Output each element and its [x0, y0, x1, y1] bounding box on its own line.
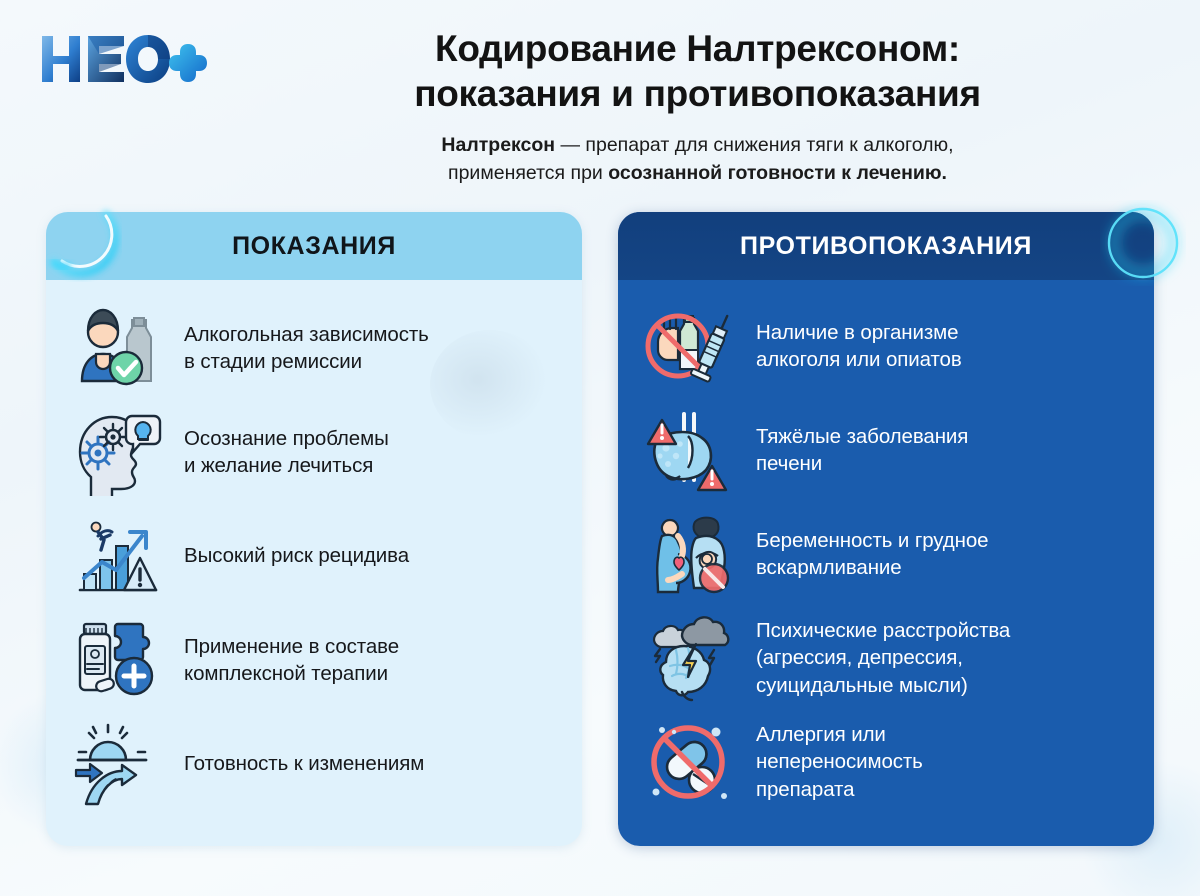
pregnancy-breastfeeding-ban-icon — [642, 508, 738, 600]
card-indications-body: Алкогольная зависимость в стадии ремисси… — [46, 280, 582, 846]
neo-plus-logo-icon — [38, 28, 208, 90]
card-indications: ПОКАЗАНИЯ Алкогольн — [46, 212, 582, 846]
list-item-text: Применение в составе комплексной терапии — [184, 633, 399, 688]
list-item-text: Аллергия или непереносимость препарата — [756, 721, 923, 803]
card-contraindications: ПРОТИВОПОКАЗАНИЯ — [618, 212, 1154, 846]
list-item-line1: Тяжёлые заболевания — [756, 423, 968, 450]
list-item-line1: Применение в составе — [184, 633, 399, 660]
page-header: Кодирование Налтрексоном: показания и пр… — [0, 0, 1200, 212]
brain-storm-cloud-icon — [642, 612, 738, 704]
list-item-line1: Психические расстройства — [756, 617, 1010, 644]
list-item-line2: и желание лечиться — [184, 452, 389, 479]
card-contraindications-header: ПРОТИВОПОКАЗАНИЯ — [618, 212, 1154, 280]
rising-chart-warning-icon — [70, 510, 166, 602]
subtitle-emphasis: осознанной готовности к лечению. — [608, 162, 947, 184]
list-item-line2: алкоголя или опиатов — [756, 346, 962, 373]
subtitle-drug-name: Налтрексон — [441, 134, 555, 156]
card-contraindications-body: Наличие в организме алкоголя или опиатов — [618, 280, 1154, 846]
list-item[interactable]: Тяжёлые заболевания печени — [642, 398, 1128, 502]
list-item-line1: Аллергия или — [756, 721, 923, 748]
subtitle-line-2: применяется при осознанной готовности к … — [215, 160, 1180, 187]
subtitle-line1-rest: — препарат для снижения тяги к алкоголю, — [555, 134, 953, 156]
subtitle-line2-rest: применяется при — [448, 162, 608, 184]
page-title: Кодирование Налтрексоном: показания и пр… — [215, 26, 1180, 116]
page-title-line1: Кодирование Налтрексоном: — [215, 26, 1180, 71]
list-item-line2: печени — [756, 450, 968, 477]
list-item-line1: Беременность и грудное — [756, 527, 988, 554]
card-indications-title: ПОКАЗАНИЯ — [232, 232, 396, 261]
list-item[interactable]: Осознание проблемы и желание лечиться — [70, 400, 556, 504]
liver-warning-icon — [642, 404, 738, 496]
brand-logo[interactable] — [38, 28, 208, 90]
no-alcohol-syringe-icon — [642, 300, 738, 392]
list-item[interactable]: Высокий риск рецидива — [70, 504, 556, 608]
list-item-text: Беременность и грудное вскармливание — [756, 527, 988, 582]
list-item[interactable]: Готовность к изменениям — [70, 712, 556, 816]
list-item[interactable]: Аллергия или непереносимость препарата — [642, 710, 1128, 814]
list-item-line3: суицидальные мысли) — [756, 672, 1010, 699]
list-item-line1: Алкогольная зависимость — [184, 321, 429, 348]
list-item-text: Психические расстройства (агрессия, депр… — [756, 617, 1010, 699]
card-contraindications-title: ПРОТИВОПОКАЗАНИЯ — [740, 232, 1032, 261]
list-item[interactable]: Беременность и грудное вскармливание — [642, 502, 1128, 606]
person-bottle-check-icon — [70, 302, 166, 394]
head-gears-idea-icon — [70, 406, 166, 498]
title-block: Кодирование Налтрексоном: показания и пр… — [215, 26, 1180, 187]
list-item-line1: Осознание проблемы — [184, 425, 389, 452]
list-item-line2: (агрессия, депрессия, — [756, 644, 1010, 671]
page-title-line2: показания и противопоказания — [215, 71, 1180, 116]
list-item-line3: препарата — [756, 776, 923, 803]
list-item-line1: Готовность к изменениям — [184, 750, 424, 777]
subtitle-line-1: Налтрексон — препарат для снижения тяги … — [215, 132, 1180, 159]
list-item-text: Наличие в организме алкоголя или опиатов — [756, 319, 962, 374]
list-item-line2: в стадии ремиссии — [184, 348, 429, 375]
list-item[interactable]: Психические расстройства (агрессия, депр… — [642, 606, 1128, 710]
list-item-line2: непереносимость — [756, 748, 923, 775]
page-subtitle: Налтрексон — препарат для снижения тяги … — [215, 132, 1180, 187]
list-item-text: Осознание проблемы и желание лечиться — [184, 425, 389, 480]
list-item[interactable]: Наличие в организме алкоголя или опиатов — [642, 294, 1128, 398]
list-item-line1: Высокий риск рецидива — [184, 542, 409, 569]
list-item[interactable]: Алкогольная зависимость в стадии ремисси… — [70, 296, 556, 400]
list-item-line2: вскармливание — [756, 554, 988, 581]
sunrise-road-arrow-icon — [70, 718, 166, 810]
list-item-text: Алкогольная зависимость в стадии ремисси… — [184, 321, 429, 376]
pill-bottle-puzzle-cross-icon — [70, 614, 166, 706]
card-indications-header: ПОКАЗАНИЯ — [46, 212, 582, 280]
list-item-text: Тяжёлые заболевания печени — [756, 423, 968, 478]
list-item[interactable]: Применение в составе комплексной терапии — [70, 608, 556, 712]
list-item-text: Готовность к изменениям — [184, 750, 424, 777]
cards-container: ПОКАЗАНИЯ Алкогольн — [0, 212, 1200, 846]
no-pills-allergy-icon — [642, 716, 738, 808]
list-item-line1: Наличие в организме — [756, 319, 962, 346]
list-item-line2: комплексной терапии — [184, 660, 399, 687]
list-item-text: Высокий риск рецидива — [184, 542, 409, 569]
